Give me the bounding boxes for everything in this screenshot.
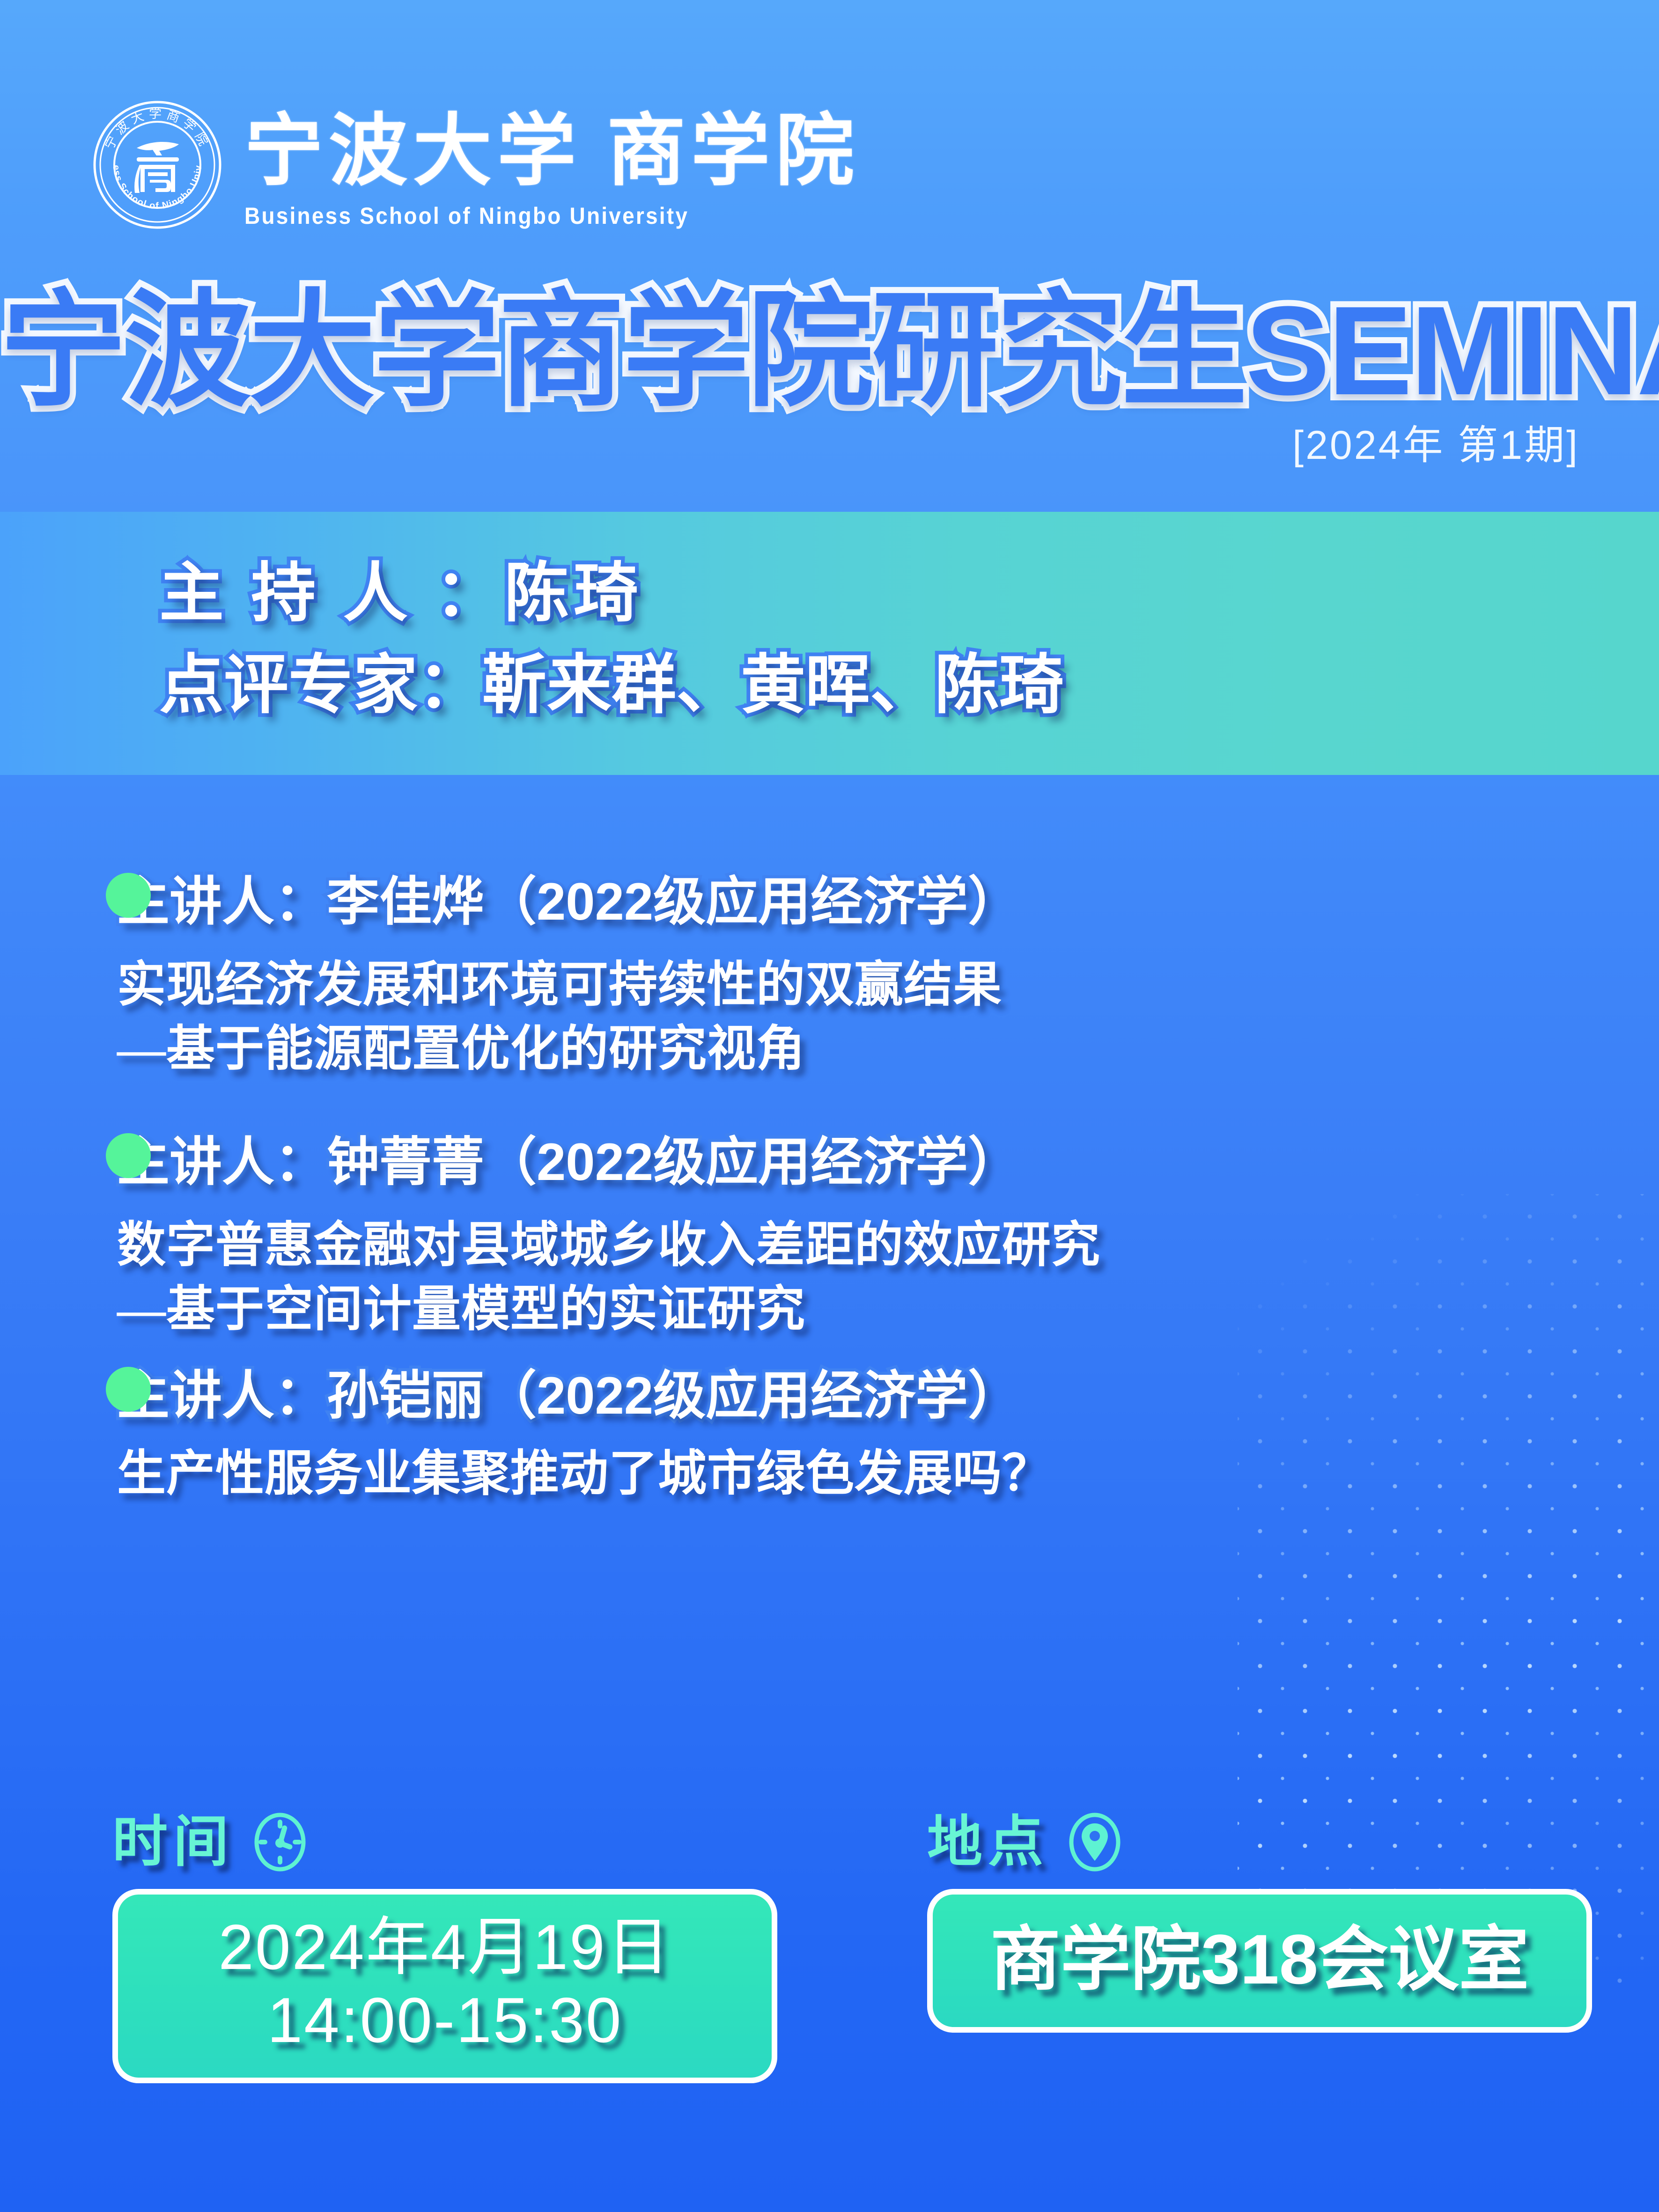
time-date: 2024年4月19日 [143,1910,746,1983]
speaker-name: 主讲人：钟菁菁（2022级应用经济学） [117,1127,1020,1197]
speaker-paper-title: 数字普惠金融对县域城乡收入差距的效应研究 —基于空间计量模型的实证研究 [117,1213,1659,1342]
time-range: 14:00-15:30 [143,1983,746,2057]
university-seal-icon: 宁波大学商学院 Business School of Ningbo Univer… [92,99,223,230]
place-label: 地点 [927,1814,1049,1870]
place-heading: 地点 [927,1812,1592,1872]
place-name: 商学院318会议室 [951,1919,1568,2000]
green-bullet-icon [106,1133,151,1178]
logo-text-cn: 宁波大学 商学院 [244,112,860,191]
seminar-poster: 宁波大学商学院 Business School of Ningbo Univer… [0,0,1659,2212]
green-bullet-icon [106,873,151,918]
list-item: 主讲人：李佳烨（2022级应用经济学） 实现经济发展和环境可持续性的双赢结果 —… [0,866,1659,1082]
time-label: 时间 [112,1814,234,1870]
school-logo: 宁波大学商学院 Business School of Ningbo Univer… [92,99,860,230]
list-item: 主讲人：孙铠丽（2022级应用经济学） 生产性服务业集聚推动了城市绿色发展吗？ [0,1360,1659,1505]
speaker-heading: 主讲人：钟菁菁（2022级应用经济学） [117,1127,1659,1197]
clock-icon [250,1812,310,1872]
logo-text-en: Business School of Ningbo University [244,202,811,229]
time-section: 时间 2024年4月19日 14:00-15:30 [112,1812,777,2083]
issue-label: [2024年 第1期] [1292,412,1579,471]
speaker-name: 主讲人：孙铠丽（2022级应用经济学） [117,1360,1020,1431]
title-block: 宁波大学商学院研究生SEMINAR [0,285,1659,418]
time-pill: 2024年4月19日 14:00-15:30 [112,1889,777,2083]
green-bullet-icon [106,1367,151,1412]
speaker-name: 主讲人：李佳烨（2022级应用经济学） [117,866,1020,937]
speaker-heading: 主讲人：孙铠丽（2022级应用经济学） [117,1360,1659,1431]
speaker-paper-title: 实现经济发展和环境可持续性的双赢结果 —基于能源配置优化的研究视角 [117,953,1659,1082]
place-section: 地点 商学院318会议室 [927,1812,1592,2033]
speaker-heading: 主讲人：李佳烨（2022级应用经济学） [117,866,1659,937]
experts-line: 点评专家：靳来群、黄晖、陈琦 [159,640,1064,731]
place-pill: 商学院318会议室 [927,1889,1592,2033]
host-block: 主 持 人 ：陈琦 点评专家：靳来群、黄晖、陈琦 [159,548,1064,731]
time-heading: 时间 [112,1812,777,1872]
moderator-line: 主 持 人 ：陈琦 [159,548,1064,640]
page-title: 宁波大学商学院研究生SEMINAR [0,285,1659,418]
list-item: 主讲人：钟菁菁（2022级应用经济学） 数字普惠金融对县域城乡收入差距的效应研究… [0,1127,1659,1342]
location-pin-icon [1065,1812,1125,1872]
speaker-paper-title: 生产性服务业集聚推动了城市绿色发展吗？ [117,1442,1659,1506]
speaker-list: 主讲人：李佳烨（2022级应用经济学） 实现经济发展和环境可持续性的双赢结果 —… [0,866,1659,1506]
